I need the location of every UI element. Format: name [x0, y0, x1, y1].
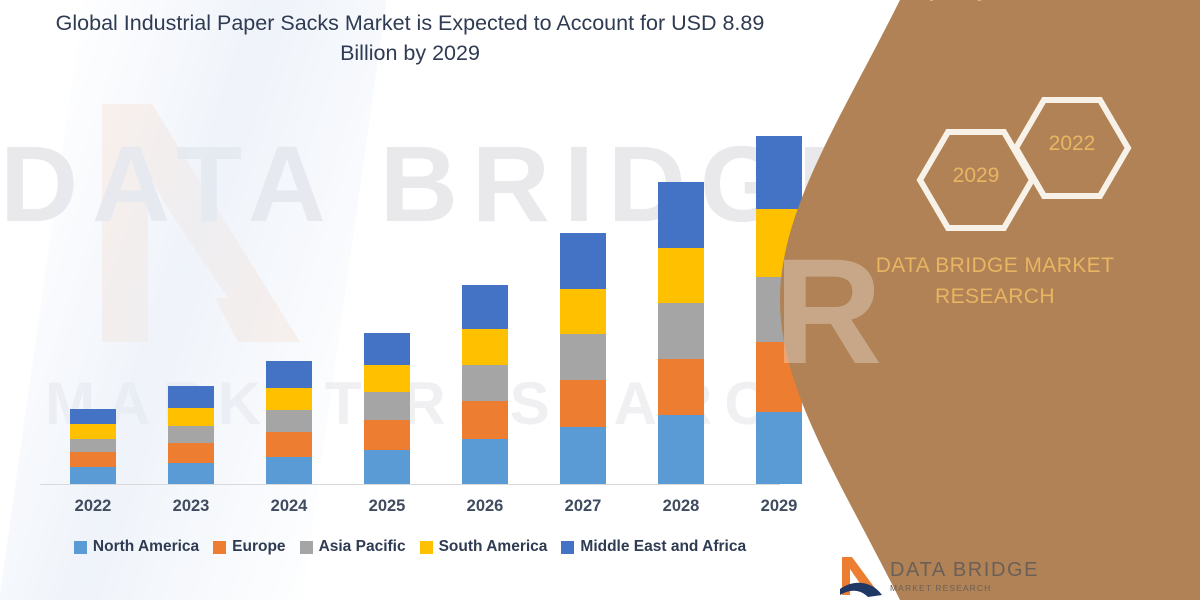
legend-item-asia-pacific[interactable]: Asia Pacific — [300, 538, 406, 556]
legend-swatch-icon — [74, 541, 87, 554]
bar-segment-sa — [658, 248, 704, 303]
bar-2024 — [266, 361, 312, 484]
bar-segment-eu — [560, 380, 606, 427]
legend-item-south-america[interactable]: South America — [420, 538, 548, 556]
x-axis-label-2024: 2024 — [249, 497, 329, 516]
brand-name-line-1: DATA BRIDGE MARKET — [790, 250, 1200, 281]
legend-swatch-icon — [420, 541, 433, 554]
legend-label: Middle East and Africa — [580, 538, 746, 556]
legend-swatch-icon — [300, 541, 313, 554]
bar-segment-sa — [364, 365, 410, 392]
bar-segment-eu — [658, 359, 704, 415]
hexagon-label-2022: 2022 — [1032, 132, 1112, 156]
x-axis-label-2028: 2028 — [641, 497, 721, 516]
bar-segment-mea — [364, 333, 410, 365]
hexagon-badges: 2029 2022 — [880, 88, 1200, 248]
chart-panel: DATA BRIDGE MARKET RESEARCH Global Indus… — [0, 0, 880, 600]
axis-baseline — [40, 484, 780, 485]
bar-segment-mea — [560, 233, 606, 289]
infographic-root: DATA BRIDGE MARKET RESEARCH Global Indus… — [0, 0, 1200, 600]
brand-name-line-2: RESEARCH — [790, 281, 1200, 312]
bar-segment-sa — [266, 388, 312, 410]
bar-segment-mea — [658, 182, 704, 248]
bar-segment-eu — [462, 401, 508, 439]
x-axis-label-2023: 2023 — [151, 497, 231, 516]
footer-logo-name: DATA BRIDGE — [890, 560, 1039, 580]
bar-2025 — [364, 333, 410, 484]
footer-logo-sub: MARKET RESEARCH — [890, 584, 1039, 593]
bar-segment-sa — [70, 424, 116, 439]
legend-swatch-icon — [561, 541, 574, 554]
bar-2023 — [168, 386, 214, 484]
bar-segment-eu — [168, 443, 214, 463]
bar-segment-na — [364, 450, 410, 484]
brand-panel: R Market, By Regions, 2022 to 2029 2029 … — [780, 0, 1200, 600]
legend-item-middle-east-and-africa[interactable]: Middle East and Africa — [561, 538, 746, 556]
bar-segment-na — [462, 439, 508, 484]
bar-segment-eu — [70, 452, 116, 467]
legend-item-north-america[interactable]: North America — [74, 538, 199, 556]
bar-segment-na — [560, 427, 606, 484]
bar-segment-sa — [168, 408, 214, 426]
bar-segment-ap — [168, 426, 214, 443]
legend-label: North America — [93, 538, 199, 556]
footer-logo: DATA BRIDGE MARKET RESEARCH — [838, 552, 1078, 600]
x-axis-label-2025: 2025 — [347, 497, 427, 516]
footer-logo-icon — [838, 555, 882, 597]
bar-2027 — [560, 233, 606, 484]
legend-label: Asia Pacific — [319, 538, 406, 556]
bar-segment-mea — [266, 361, 312, 388]
bar-2028 — [658, 182, 704, 484]
brand-name: DATA BRIDGE MARKET RESEARCH — [790, 250, 1200, 312]
bar-segment-mea — [70, 409, 116, 424]
bar-segment-ap — [462, 365, 508, 401]
footer-logo-text: DATA BRIDGE MARKET RESEARCH — [890, 560, 1039, 593]
bar-segment-ap — [658, 303, 704, 359]
hexagon-label-2029: 2029 — [936, 164, 1016, 188]
bar-segment-eu — [364, 420, 410, 450]
legend-swatch-icon — [213, 541, 226, 554]
bar-segment-mea — [462, 285, 508, 329]
bar-segment-eu — [266, 432, 312, 457]
legend-label: South America — [439, 538, 548, 556]
bar-segment-na — [658, 415, 704, 484]
bar-segment-na — [70, 467, 116, 484]
bar-2026 — [462, 285, 508, 484]
bar-segment-sa — [560, 289, 606, 334]
bar-segment-sa — [462, 329, 508, 365]
bar-segment-ap — [70, 439, 116, 452]
bar-segment-ap — [364, 392, 410, 420]
bar-2022 — [70, 409, 116, 484]
bar-segment-mea — [168, 386, 214, 408]
legend-item-europe[interactable]: Europe — [213, 538, 285, 556]
x-axis-label-2026: 2026 — [445, 497, 525, 516]
bar-segment-ap — [560, 334, 606, 380]
chart-legend: North AmericaEuropeAsia PacificSouth Ame… — [0, 538, 820, 556]
stacked-bar-chart: 20222023202420252026202720282029 — [0, 0, 820, 600]
x-axis-label-2022: 2022 — [53, 497, 133, 516]
bar-segment-na — [266, 457, 312, 484]
brand-panel-title: Market, By Regions, 2022 to 2029 — [800, 0, 1200, 4]
bar-segment-ap — [266, 410, 312, 432]
x-axis-label-2027: 2027 — [543, 497, 623, 516]
legend-label: Europe — [232, 538, 285, 556]
bar-segment-na — [168, 463, 214, 484]
